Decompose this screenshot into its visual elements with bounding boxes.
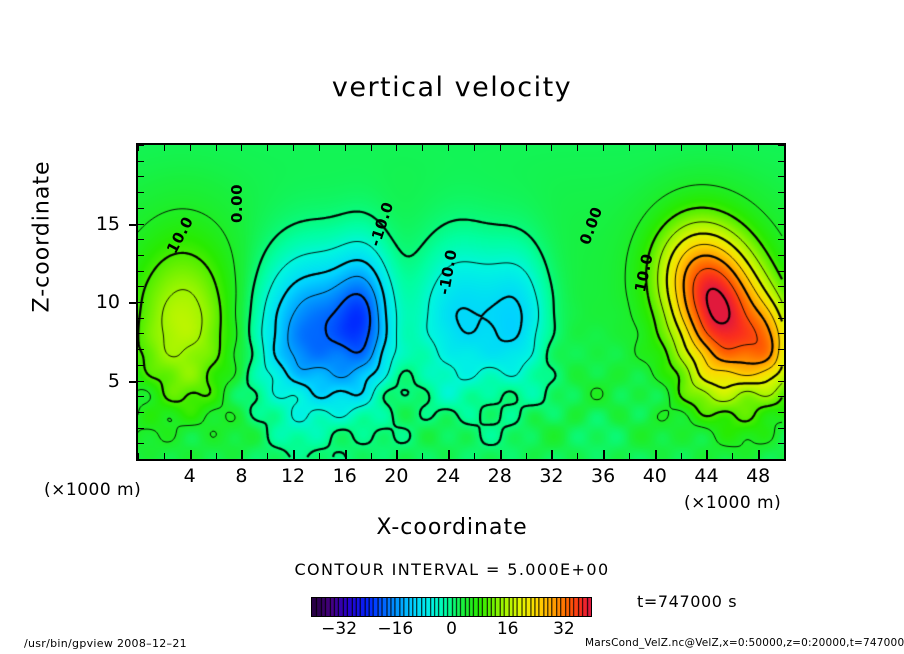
x-axis-minor-tick xyxy=(500,145,501,151)
y-axis-minor-tick xyxy=(138,381,144,382)
y-axis-minor-tick xyxy=(138,428,144,429)
x-axis-minor-tick xyxy=(551,145,552,151)
x-axis-major-tick xyxy=(551,450,553,459)
y-axis-minor-tick xyxy=(778,239,784,240)
y-axis-minor-tick xyxy=(138,286,144,287)
x-axis-minor-tick xyxy=(732,145,733,151)
x-axis-minor-tick xyxy=(319,145,320,151)
y-axis-minor-tick xyxy=(138,145,144,146)
y-axis-minor-tick xyxy=(778,145,784,146)
x-axis-major-tick xyxy=(345,450,347,459)
x-axis-minor-tick xyxy=(706,145,707,151)
x-axis-minor-tick xyxy=(629,453,630,459)
x-axis-minor-tick xyxy=(603,145,604,151)
x-axis-major-tick xyxy=(190,450,192,459)
x-axis-tick-label: 36 xyxy=(578,465,628,487)
x-axis-tick-label: 12 xyxy=(268,465,318,487)
x-axis-minor-tick xyxy=(732,453,733,459)
x-axis-minor-tick xyxy=(629,145,630,151)
y-axis-minor-tick xyxy=(778,412,784,413)
colorbar-tick-label: 0 xyxy=(430,619,474,639)
x-axis-minor-tick xyxy=(345,145,346,151)
y-axis-minor-tick xyxy=(778,443,784,444)
colorbar xyxy=(311,597,592,617)
y-axis-tick-label: 5 xyxy=(74,370,120,392)
colorbar-tick-label: −16 xyxy=(373,619,417,639)
y-axis-title: Z-coordinate xyxy=(30,137,55,337)
y-axis-minor-tick xyxy=(778,255,784,256)
x-axis-title: X-coordinate xyxy=(0,515,904,540)
x-axis-major-tick xyxy=(655,450,657,459)
y-axis-minor-tick xyxy=(778,333,784,334)
x-axis-minor-tick xyxy=(241,145,242,151)
x-axis-minor-tick xyxy=(526,453,527,459)
x-axis-major-tick xyxy=(603,450,605,459)
y-axis-minor-tick xyxy=(138,333,144,334)
x-axis-major-tick xyxy=(293,450,295,459)
x-axis-minor-tick xyxy=(164,453,165,459)
x-axis-tick-label: 44 xyxy=(681,465,731,487)
y-axis-minor-tick xyxy=(138,271,144,272)
x-axis-tick-label: 28 xyxy=(475,465,525,487)
x-axis-minor-tick xyxy=(474,453,475,459)
y-axis-minor-tick xyxy=(778,349,784,350)
colorbar-tick-label: 16 xyxy=(486,619,530,639)
x-axis-tick-label: 16 xyxy=(320,465,370,487)
y-axis-minor-tick xyxy=(138,459,144,460)
x-axis-minor-tick xyxy=(681,145,682,151)
y-axis-tick-label: 10 xyxy=(74,291,120,313)
footer-command-label: /usr/bin/gpview 2008–12–21 xyxy=(24,637,187,650)
x-axis-minor-tick xyxy=(422,145,423,151)
y-axis-minor-tick xyxy=(778,428,784,429)
x-axis-minor-tick xyxy=(216,453,217,459)
x-axis-tick-label: 8 xyxy=(216,465,266,487)
x-axis-minor-tick xyxy=(784,145,785,151)
y-axis-minor-tick xyxy=(138,208,144,209)
y-axis-minor-tick xyxy=(138,192,144,193)
x-axis-major-tick xyxy=(500,450,502,459)
x-axis-tick-label: 48 xyxy=(733,465,783,487)
y-axis-minor-tick xyxy=(778,302,784,303)
x-axis-minor-tick xyxy=(164,145,165,151)
y-axis-minor-tick xyxy=(138,396,144,397)
page-title: vertical velocity xyxy=(0,72,904,103)
x-axis-tick-label: 32 xyxy=(526,465,576,487)
y-axis-minor-tick xyxy=(778,365,784,366)
x-axis-minor-tick xyxy=(448,145,449,151)
y-axis-major-tick xyxy=(129,381,138,383)
y-axis-minor-tick xyxy=(138,318,144,319)
y-axis-minor-tick xyxy=(138,161,144,162)
x-axis-minor-tick xyxy=(371,145,372,151)
x-axis-major-tick xyxy=(241,450,243,459)
colorbar-tick-label: −32 xyxy=(317,619,361,639)
y-axis-minor-tick xyxy=(138,365,144,366)
y-axis-minor-tick xyxy=(778,318,784,319)
colorbar-canvas xyxy=(311,597,592,617)
x-axis-tick-label: 24 xyxy=(423,465,473,487)
y-axis-minor-tick xyxy=(138,224,144,225)
x-axis-major-tick xyxy=(448,450,450,459)
y-axis-minor-tick xyxy=(138,302,144,303)
x-axis-tick-label: 4 xyxy=(165,465,215,487)
x-axis-minor-tick xyxy=(267,145,268,151)
x-axis-minor-tick xyxy=(577,145,578,151)
footer-dataset-label: MarsCond_VelZ.nc@VelZ,x=0:50000,z=0:2000… xyxy=(585,637,904,649)
x-axis-tick-label: 40 xyxy=(630,465,680,487)
y-axis-minor-tick xyxy=(778,381,784,382)
x-axis-unit-label: (×1000 m) xyxy=(684,493,781,513)
y-axis-minor-tick xyxy=(778,286,784,287)
contour-interval-label: CONTOUR INTERVAL = 5.000E+00 xyxy=(0,560,904,579)
y-axis-minor-tick xyxy=(778,396,784,397)
y-axis-minor-tick xyxy=(778,176,784,177)
y-axis-minor-tick xyxy=(138,412,144,413)
x-axis-minor-tick xyxy=(267,453,268,459)
contour-plot-area: 10.00.00-10.0-10.00.0010.0 xyxy=(136,143,786,461)
x-axis-minor-tick xyxy=(526,145,527,151)
y-axis-minor-tick xyxy=(138,176,144,177)
y-axis-tick-label: 15 xyxy=(74,213,120,235)
x-axis-minor-tick xyxy=(681,453,682,459)
x-axis-minor-tick xyxy=(577,453,578,459)
x-axis-minor-tick xyxy=(190,145,191,151)
y-axis-minor-tick xyxy=(138,255,144,256)
x-axis-minor-tick xyxy=(655,145,656,151)
x-axis-minor-tick xyxy=(319,453,320,459)
x-axis-major-tick xyxy=(758,450,760,459)
time-label: t=747000 s xyxy=(637,592,737,611)
x-axis-minor-tick xyxy=(758,145,759,151)
x-axis-minor-tick xyxy=(784,453,785,459)
x-axis-minor-tick xyxy=(396,145,397,151)
y-axis-minor-tick xyxy=(778,224,784,225)
colorbar-tick-label: 32 xyxy=(542,619,586,639)
x-axis-minor-tick xyxy=(371,453,372,459)
y-axis-minor-tick xyxy=(778,192,784,193)
y-axis-major-tick xyxy=(129,302,138,304)
y-axis-minor-tick xyxy=(138,239,144,240)
y-axis-minor-tick xyxy=(778,161,784,162)
x-axis-tick-label: 20 xyxy=(371,465,421,487)
y-axis-minor-tick xyxy=(778,271,784,272)
y-axis-minor-tick xyxy=(778,208,784,209)
y-axis-minor-tick xyxy=(778,459,784,460)
x-axis-minor-tick xyxy=(474,145,475,151)
x-axis-minor-tick xyxy=(216,145,217,151)
contour-label: 0.00 xyxy=(228,184,246,223)
y-axis-unit-label: (×1000 m) xyxy=(44,480,141,500)
x-axis-major-tick xyxy=(706,450,708,459)
y-axis-minor-tick xyxy=(138,443,144,444)
x-axis-minor-tick xyxy=(293,145,294,151)
x-axis-minor-tick xyxy=(422,453,423,459)
y-axis-major-tick xyxy=(129,224,138,226)
x-axis-major-tick xyxy=(396,450,398,459)
y-axis-minor-tick xyxy=(138,349,144,350)
colorbar-tick-labels: −32−1601632 xyxy=(291,619,611,641)
